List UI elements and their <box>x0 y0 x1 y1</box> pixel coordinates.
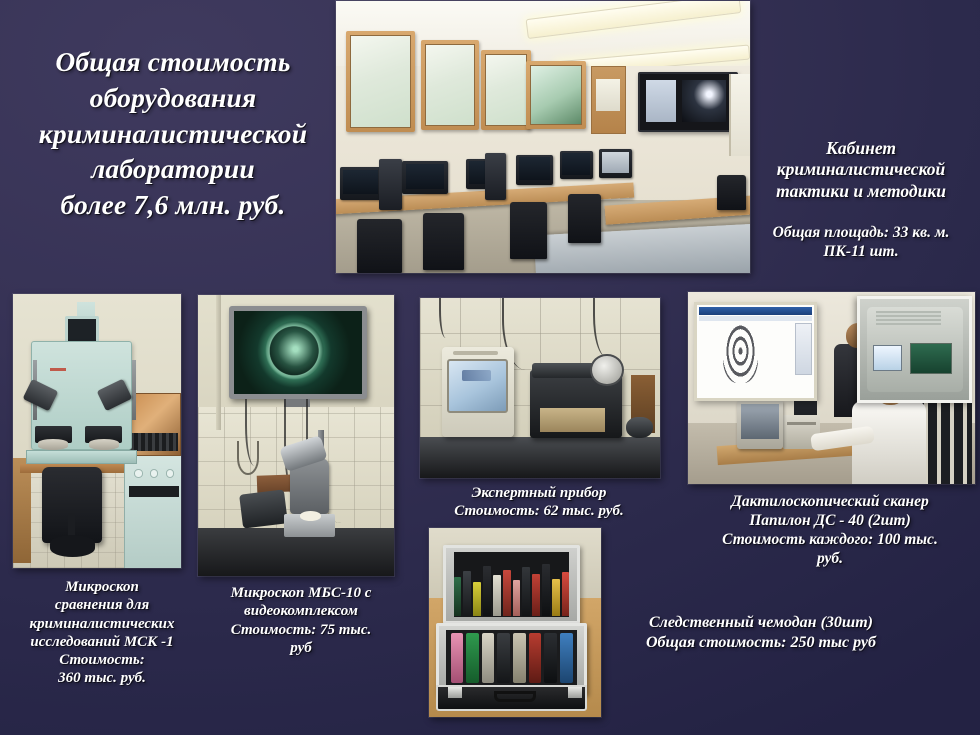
classroom-photo <box>336 1 750 273</box>
support-rod <box>132 360 136 420</box>
computer-monitor <box>599 149 632 178</box>
investigation-case-caption: Следственный чемодан (30шт) Общая стоимо… <box>608 613 914 652</box>
comparison-microscope-caption: Микроскоп сравнения для криминалистическ… <box>4 578 200 688</box>
display-case <box>346 31 414 132</box>
mbs10-microscope-caption: Микроскоп МБС-10 с видеокомплексом Стоим… <box>203 584 399 657</box>
computer-monitor <box>516 155 553 185</box>
chair <box>568 194 601 243</box>
instrument-deck <box>26 450 137 464</box>
case-base <box>436 623 587 695</box>
comparison-microscope-photo <box>13 294 181 568</box>
display-case <box>421 40 479 130</box>
wall-television <box>229 306 366 399</box>
projection-screen <box>694 302 817 402</box>
case-handle <box>494 691 535 702</box>
scanner-inset-photo <box>857 296 972 404</box>
magnifier-lens <box>590 354 624 386</box>
mbs-scene <box>198 295 394 576</box>
lab-bench <box>420 437 660 478</box>
room-caption-heading: Кабинет криминалистической тактики и мет… <box>745 138 977 204</box>
crt-monitor <box>442 347 514 437</box>
case-lid <box>443 545 581 624</box>
computer-monitor <box>737 400 783 450</box>
case-latch <box>568 687 582 698</box>
computer-monitor <box>402 161 448 194</box>
chair <box>423 213 464 270</box>
page-title: Общая стоимость оборудования криминалист… <box>14 44 332 223</box>
computer-mouse <box>626 417 652 439</box>
cable <box>439 298 449 338</box>
computer-tower <box>485 153 506 199</box>
display-case <box>481 50 531 130</box>
fingerprint-scanner-photo <box>688 292 975 484</box>
side-cabinet <box>13 458 31 562</box>
wall-hook <box>237 441 259 475</box>
chair <box>717 175 746 210</box>
chair <box>357 219 403 273</box>
tool-row <box>454 554 570 616</box>
chair-base <box>50 535 95 557</box>
room-caption: Кабинет криминалистической тактики и мет… <box>745 118 977 281</box>
door <box>591 66 626 134</box>
presentation-slide: Общая стоимость оборудования криминалист… <box>0 0 980 735</box>
scanner-scene <box>688 292 975 484</box>
stage-plate <box>89 439 119 450</box>
investigation-case-photo <box>429 528 601 717</box>
control-knobs <box>131 469 178 477</box>
fingerprint-scanner-caption: Дактилоскопический сканер Папилон ДС - 4… <box>684 493 976 569</box>
wall-monitor <box>638 72 737 132</box>
room-caption-details: Общая площадь: 33 кв. м. ПК-11 шт. <box>745 223 977 262</box>
wall-pipe <box>216 295 221 430</box>
case-scene <box>429 528 601 717</box>
microscope-scene <box>13 294 181 568</box>
mbs10-microscope-photo <box>198 295 394 576</box>
display-case <box>526 61 586 129</box>
control-strip <box>129 486 179 497</box>
video-camera <box>239 489 288 528</box>
fingerprint-image <box>723 325 758 383</box>
stage-plate <box>38 439 68 450</box>
chair <box>510 202 547 259</box>
computer-tower <box>379 159 402 211</box>
computer-monitor <box>560 151 593 180</box>
classroom-scene <box>336 1 750 273</box>
case-latch <box>448 687 462 698</box>
expert-scene <box>420 298 660 478</box>
expert-device-photo <box>420 298 660 478</box>
equipment-row <box>451 633 573 683</box>
computer-monitor <box>340 167 381 200</box>
expert-device-caption: Экспертный прибор Стоимость: 62 тыс. руб… <box>424 484 654 521</box>
